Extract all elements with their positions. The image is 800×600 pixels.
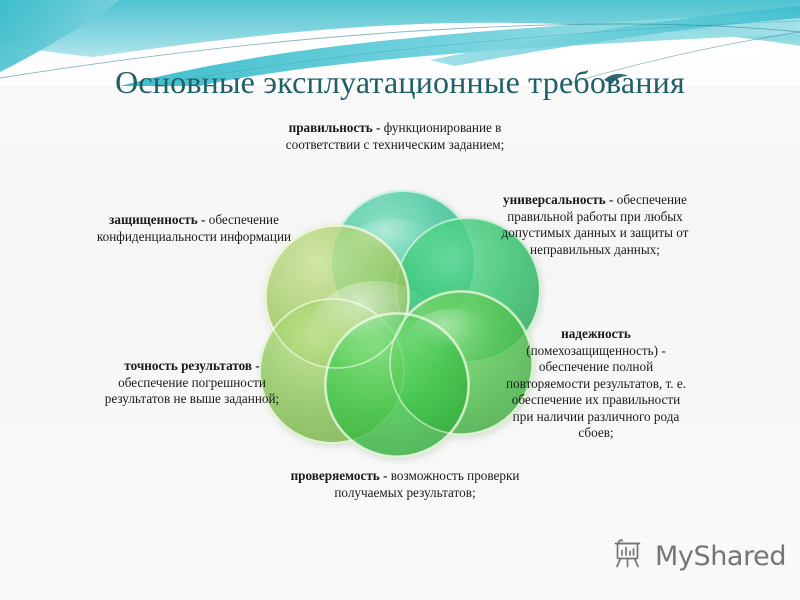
callout-reliability-text: (помехозащищенность) - обеспечение полно… [506,343,686,441]
callout-correctness-term: правильность - [289,120,381,135]
myshared-watermark: MyShared [612,538,786,575]
presentation-chart-icon [612,538,646,575]
gloss-highlight-right [405,309,497,377]
presentation-slide: Основные эксплуатационные требования [0,0,800,600]
callout-universality-term: универсальность - [503,192,613,207]
callout-accuracy: точность результатов - обеспечение погре… [92,358,292,408]
callout-reliability-term: надежность [561,326,631,341]
callout-correctness: правильность - функционирование в соотве… [278,120,512,153]
callout-security-term: защищенность - [109,212,205,227]
callout-verifiability: проверяемость - возможность проверки пол… [288,468,522,501]
gloss-highlight-top [347,219,443,271]
page-title: Основные эксплуатационные требования [0,62,800,102]
callout-security: защищенность - обеспечение конфиденциаль… [96,212,292,245]
callout-accuracy-text: обеспечение погрешности результатов не в… [105,375,279,407]
callout-reliability: надежность (помехозащищенность) - обеспе… [500,326,692,442]
callout-accuracy-term: точность результатов - [124,358,259,373]
myshared-watermark-text: MyShared [655,542,786,572]
callout-universality: универсальность - обеспечение правильной… [498,192,692,258]
callout-verifiability-term: проверяемость - [291,468,388,483]
